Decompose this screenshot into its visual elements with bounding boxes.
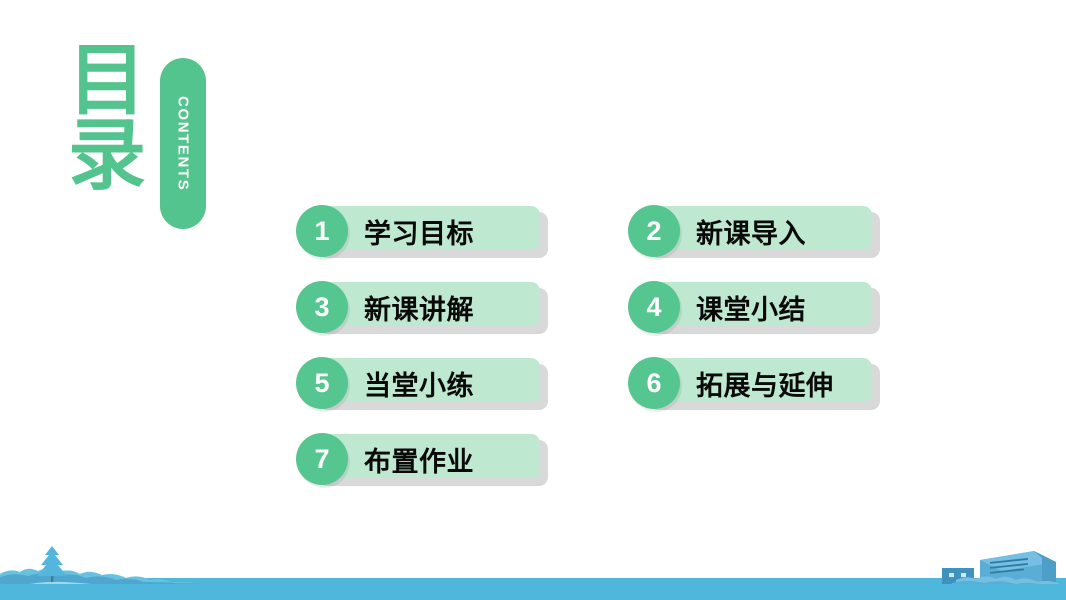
toc-number-badge: 2: [628, 205, 680, 257]
factory-building-icon: [916, 540, 1066, 600]
toc-number-badge: 1: [296, 205, 348, 257]
tree-shoreline-icon: [0, 540, 200, 600]
bottom-decoration: [0, 540, 1066, 600]
toc-item-label: 当堂小练: [364, 357, 474, 409]
toc-number-badge: 6: [628, 357, 680, 409]
toc-item-label: 拓展与延伸: [696, 357, 834, 409]
page-title: 目 录: [68, 44, 156, 194]
toc-number-badge: 5: [296, 357, 348, 409]
contents-heading: 目 录 CONTENTS: [68, 44, 288, 244]
toc-item-label: 新课导入: [696, 205, 806, 257]
toc-number-badge: 3: [296, 281, 348, 333]
contents-pill-label: CONTENTS: [175, 96, 192, 191]
toc-number-badge: 7: [296, 433, 348, 485]
toc-number-badge: 4: [628, 281, 680, 333]
toc-item-label: 布置作业: [364, 433, 474, 485]
slide-canvas: 目 录 CONTENTS 1 学习目标 3 新课讲解 5: [0, 0, 1066, 600]
toc-item-label: 学习目标: [364, 205, 474, 257]
contents-pill-badge: CONTENTS: [160, 58, 206, 229]
toc-item-label: 课堂小结: [696, 281, 806, 333]
toc-item-label: 新课讲解: [364, 281, 474, 333]
